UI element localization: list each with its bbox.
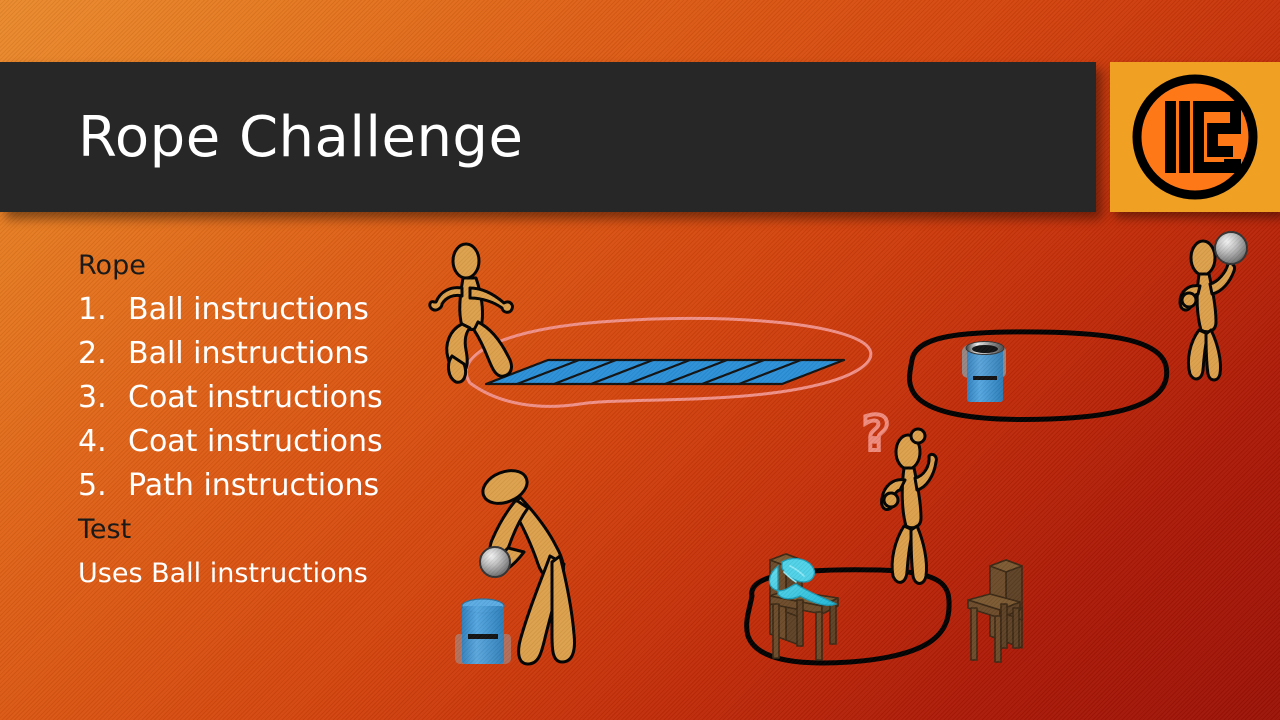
body-text-block: Rope 1. Ball instructions 2. Ball instru… xyxy=(78,244,478,596)
list-item-number: 3. xyxy=(78,376,128,420)
cyan-coat xyxy=(769,559,836,606)
body-subheading: Test xyxy=(78,508,478,552)
list-item-label: Coat instructions xyxy=(128,376,478,420)
list-item-number: 2. xyxy=(78,332,128,376)
blue-barrel-top-right xyxy=(962,342,1006,403)
list-item[interactable]: 1. Ball instructions xyxy=(78,288,478,332)
list-item-label: Path instructions xyxy=(128,464,478,508)
list-item[interactable]: 4. Coat instructions xyxy=(78,420,478,464)
black-lasso-around-chair-with-coat xyxy=(747,570,949,663)
figure-holding-ball-raised xyxy=(1180,232,1247,380)
list-item-number: 4. xyxy=(78,420,128,464)
question-mark: ? xyxy=(862,406,890,462)
list-item-label: Coat instructions xyxy=(128,420,478,464)
list-item-number: 5. xyxy=(78,464,128,508)
list-item[interactable]: 2. Ball instructions xyxy=(78,332,478,376)
list-item-label: Ball instructions xyxy=(128,288,478,332)
blue-barrel-bottom-left xyxy=(455,599,511,664)
list-item[interactable]: 5. Path instructions xyxy=(78,464,478,508)
black-lasso-around-barrel xyxy=(910,332,1167,420)
blue-ladder-mat xyxy=(486,360,844,384)
list-item[interactable]: 3. Coat instructions xyxy=(78,376,478,420)
wooden-chair-left xyxy=(770,554,838,660)
body-heading: Rope xyxy=(78,244,478,288)
pink-lasso-around-ladder xyxy=(466,319,871,407)
list-item-label: Ball instructions xyxy=(128,332,478,376)
figure-confused xyxy=(882,429,937,584)
ilg-logo-icon xyxy=(1129,71,1261,203)
list-item-number: 1. xyxy=(78,288,128,332)
svg-text:?: ? xyxy=(862,406,890,462)
figure-bending-with-ball xyxy=(478,464,574,664)
page-title: Rope Challenge xyxy=(78,105,523,170)
title-bar: Rope Challenge xyxy=(0,62,1096,212)
slide-canvas: ? Rope Challenge Rope 1. xyxy=(0,0,1280,720)
body-footer-line: Uses Ball instructions xyxy=(78,552,478,596)
wooden-chair-right xyxy=(968,560,1022,662)
logo-box xyxy=(1110,62,1280,212)
